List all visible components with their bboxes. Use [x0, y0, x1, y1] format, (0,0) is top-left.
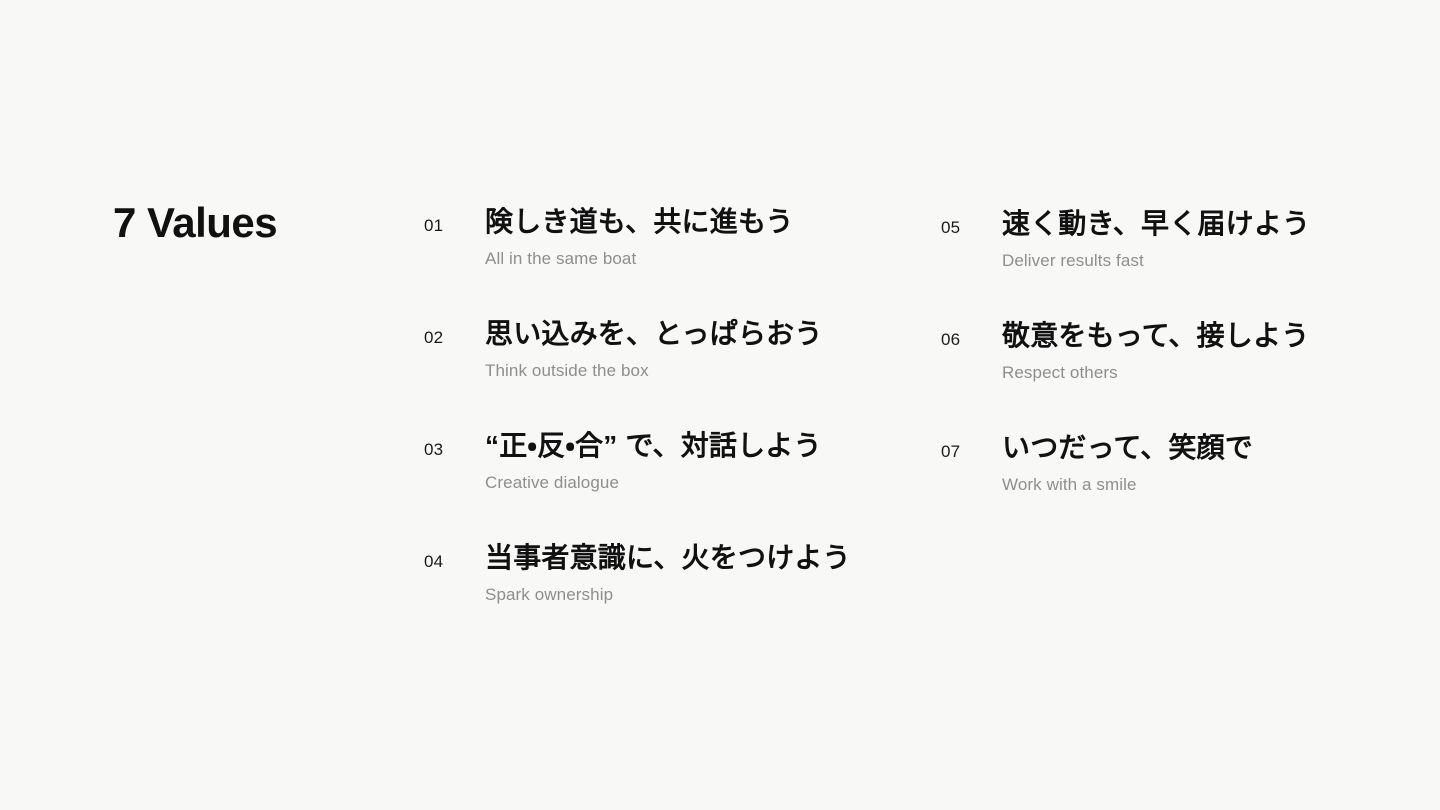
value-subtitle: Deliver results fast: [1002, 250, 1371, 272]
value-index: 03: [424, 441, 443, 458]
value-body: いつだって、笑顔で Work with a smile: [1002, 430, 1371, 496]
value-title: “正・反・合” で、対話しよう: [485, 428, 904, 463]
value-item: 01 険しき道も、共に進もう All in the same boat: [424, 204, 904, 316]
value-subtitle: All in the same boat: [485, 248, 904, 270]
value-body: 敬意をもって、接しよう Respect others: [1002, 318, 1371, 384]
value-index: 01: [424, 217, 443, 234]
value-subtitle: Spark ownership: [485, 584, 904, 606]
value-index: 05: [941, 219, 960, 236]
values-slide: 7 Values 01 険しき道も、共に進もう All in the same …: [0, 0, 1440, 810]
value-subtitle: Think outside the box: [485, 360, 904, 382]
value-index: 02: [424, 329, 443, 346]
value-title: いつだって、笑顔で: [1002, 430, 1371, 465]
value-item: 07 いつだって、笑顔で Work with a smile: [941, 430, 1371, 542]
value-body: 速く動き、早く届けよう Deliver results fast: [1002, 206, 1371, 272]
value-item: 02 思い込みを、とっぱらおう Think outside the box: [424, 316, 904, 428]
value-title: 敬意をもって、接しよう: [1002, 318, 1371, 353]
value-title: 険しき道も、共に進もう: [485, 204, 904, 239]
values-column-left: 01 険しき道も、共に進もう All in the same boat 02 思…: [424, 204, 904, 652]
value-item: 03 “正・反・合” で、対話しよう Creative dialogue: [424, 428, 904, 540]
value-index: 04: [424, 553, 443, 570]
value-index: 07: [941, 443, 960, 460]
value-subtitle: Respect others: [1002, 362, 1371, 384]
value-subtitle: Work with a smile: [1002, 474, 1371, 496]
value-title: 思い込みを、とっぱらおう: [485, 316, 904, 351]
value-body: 険しき道も、共に進もう All in the same boat: [485, 204, 904, 270]
value-body: 思い込みを、とっぱらおう Think outside the box: [485, 316, 904, 382]
value-item: 04 当事者意識に、火をつけよう Spark ownership: [424, 540, 904, 652]
value-body: “正・反・合” で、対話しよう Creative dialogue: [485, 428, 904, 494]
value-title: 速く動き、早く届けよう: [1002, 206, 1371, 241]
values-column-right: 05 速く動き、早く届けよう Deliver results fast 06 敬…: [941, 206, 1371, 542]
value-title: 当事者意識に、火をつけよう: [485, 540, 904, 575]
value-item: 06 敬意をもって、接しよう Respect others: [941, 318, 1371, 430]
value-item: 05 速く動き、早く届けよう Deliver results fast: [941, 206, 1371, 318]
page-title: 7 Values: [113, 200, 277, 246]
value-subtitle: Creative dialogue: [485, 472, 904, 494]
value-index: 06: [941, 331, 960, 348]
value-body: 当事者意識に、火をつけよう Spark ownership: [485, 540, 904, 606]
